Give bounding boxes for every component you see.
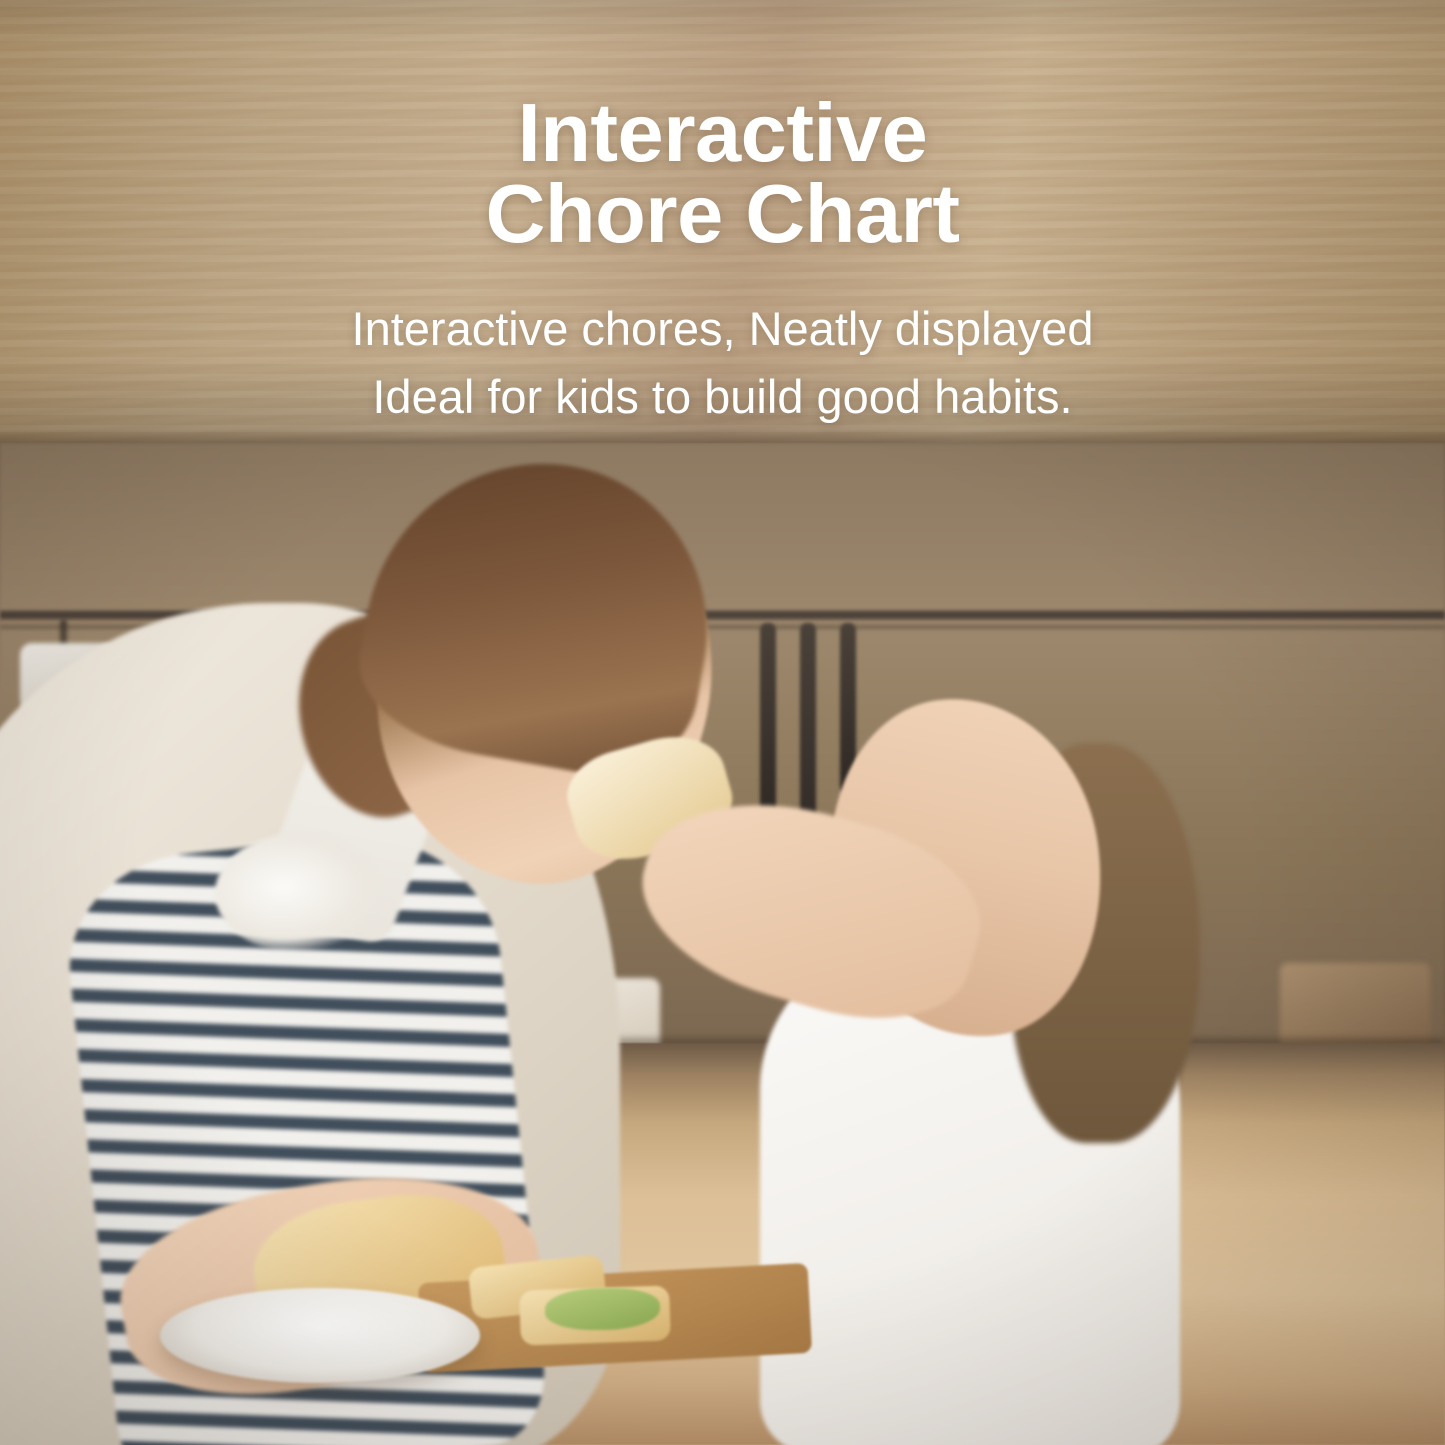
photo-vignette	[0, 443, 1445, 1445]
headline-line-2: Chore Chart	[0, 173, 1445, 254]
hero-text-block: Interactive Chore Chart Interactive chor…	[0, 92, 1445, 431]
page-title: Interactive Chore Chart	[0, 92, 1445, 255]
headline-line-1: Interactive	[518, 86, 928, 179]
subhead-line-2: Ideal for kids to build good habits.	[0, 363, 1445, 431]
lifestyle-photo: Calendar Chores	[0, 443, 1445, 1445]
subhead-line-1: Interactive chores, Neatly displayed	[352, 302, 1094, 355]
page-subtitle: Interactive chores, Neatly displayed Ide…	[0, 295, 1445, 431]
